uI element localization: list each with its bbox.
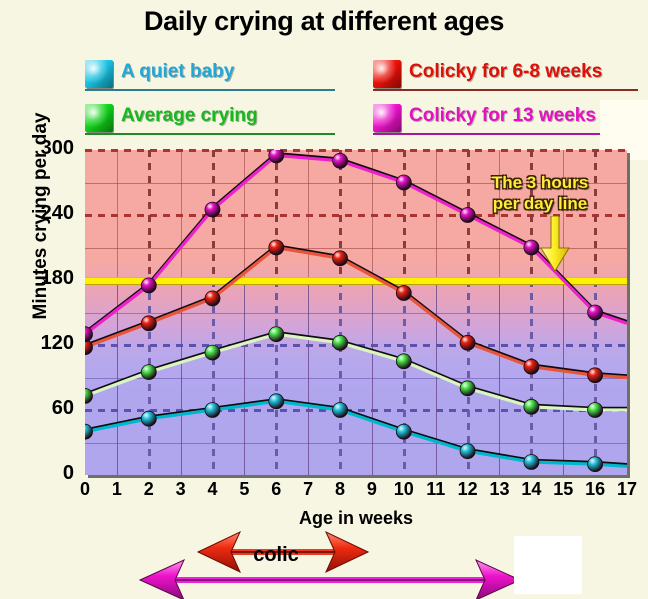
data-point[interactable]	[588, 457, 603, 472]
x-axis-tick-label: 14	[516, 479, 546, 500]
legend-swatch-colicky-6-8	[373, 60, 401, 88]
data-point[interactable]	[141, 316, 156, 331]
y-axis-tick-label: 0	[2, 462, 74, 485]
data-point[interactable]	[85, 424, 93, 439]
data-point[interactable]	[205, 202, 220, 217]
data-point[interactable]	[396, 175, 411, 190]
x-axis-tick-label: 13	[484, 479, 514, 500]
legend-item-colicky-13[interactable]: Colicky for 13 weeks	[373, 104, 638, 136]
x-axis-tick-label: 11	[421, 479, 451, 500]
y-axis-tick-labels: 300240180120600	[0, 150, 80, 475]
x-axis-tick-label: 16	[580, 479, 610, 500]
x-axis-tick-label: 8	[325, 479, 355, 500]
white-overlay-patch	[514, 536, 582, 594]
legend-label-colicky-13: Colicky for 13 weeks	[409, 105, 596, 127]
data-point[interactable]	[333, 251, 348, 266]
data-point[interactable]	[205, 345, 220, 360]
data-point[interactable]	[524, 455, 539, 470]
data-point[interactable]	[588, 368, 603, 383]
colic-label: colic	[196, 544, 356, 567]
legend-item-quiet-baby[interactable]: A quiet baby	[85, 60, 335, 92]
x-axis-tick-label: 4	[198, 479, 228, 500]
data-point[interactable]	[269, 150, 284, 163]
x-axis-tick-label: 2	[134, 479, 164, 500]
data-point[interactable]	[588, 305, 603, 320]
data-point[interactable]	[269, 394, 284, 409]
data-point[interactable]	[524, 240, 539, 255]
x-axis-tick-label: 17	[612, 479, 642, 500]
series-line-shadow	[85, 400, 627, 465]
data-point[interactable]	[396, 354, 411, 369]
series-average-crying	[85, 327, 627, 418]
data-point[interactable]	[269, 327, 284, 342]
data-point[interactable]	[333, 403, 348, 418]
page-title: Daily crying at different ages	[0, 6, 648, 37]
legend-swatch-average-crying	[85, 104, 113, 132]
legend-label-average-crying: Average crying	[121, 105, 258, 127]
chart-legend: A quiet baby Colicky for 6-8 weeks Avera…	[85, 60, 645, 138]
x-axis-tick-labels: 01234567891011121314151617	[85, 479, 627, 503]
x-axis-tick-label: 1	[102, 479, 132, 500]
y-axis-tick-label: 180	[2, 267, 74, 290]
data-point[interactable]	[524, 359, 539, 374]
y-axis-tick-label: 300	[2, 137, 74, 160]
plot-area: The 3 hours per day line	[85, 150, 627, 475]
series-lines-and-markers	[85, 150, 627, 475]
x-axis-tick-label: 3	[166, 479, 196, 500]
x-axis-tick-label: 15	[548, 479, 578, 500]
series-colicky-for-13-weeks	[85, 150, 627, 342]
legend-rule-average-crying	[85, 133, 335, 135]
series-line-shadow	[85, 333, 627, 409]
x-axis-tick-label: 6	[261, 479, 291, 500]
legend-label-quiet-baby: A quiet baby	[121, 61, 234, 83]
data-point[interactable]	[460, 208, 475, 223]
y-axis-tick-label: 120	[2, 332, 74, 355]
y-axis-tick-label: 60	[2, 397, 74, 420]
x-axis-tick-label: 7	[293, 479, 323, 500]
legend-item-average-crying[interactable]: Average crying	[85, 104, 335, 136]
data-point[interactable]	[396, 286, 411, 301]
y-axis-tick-label: 240	[2, 202, 74, 225]
data-point[interactable]	[460, 381, 475, 396]
x-axis-tick-label: 5	[229, 479, 259, 500]
data-point[interactable]	[269, 240, 284, 255]
x-axis-tick-label: 9	[357, 479, 387, 500]
legend-label-colicky-6-8: Colicky for 6-8 weeks	[409, 61, 602, 83]
legend-item-colicky-6-8[interactable]: Colicky for 6-8 weeks	[373, 60, 638, 92]
legend-swatch-colicky-13	[373, 104, 401, 132]
data-point[interactable]	[588, 403, 603, 418]
legend-rule-colicky-13	[373, 133, 638, 135]
data-point[interactable]	[396, 424, 411, 439]
data-point[interactable]	[333, 153, 348, 168]
x-axis-tick-label: 10	[389, 479, 419, 500]
data-point[interactable]	[460, 335, 475, 350]
data-point[interactable]	[333, 335, 348, 350]
x-axis-tick-label: 12	[453, 479, 483, 500]
legend-rule-colicky-6-8	[373, 89, 638, 91]
legend-swatch-quiet-baby	[85, 60, 113, 88]
legend-rule-quiet-baby	[85, 89, 335, 91]
series-line	[85, 401, 627, 466]
data-point[interactable]	[460, 444, 475, 459]
series-line	[85, 155, 627, 334]
x-axis-tick-label: 0	[70, 479, 100, 500]
data-point[interactable]	[141, 365, 156, 380]
data-point[interactable]	[524, 399, 539, 414]
series-line-shadow	[85, 154, 627, 333]
data-point[interactable]	[205, 291, 220, 306]
data-point[interactable]	[141, 411, 156, 426]
data-point[interactable]	[141, 278, 156, 293]
data-point[interactable]	[205, 403, 220, 418]
